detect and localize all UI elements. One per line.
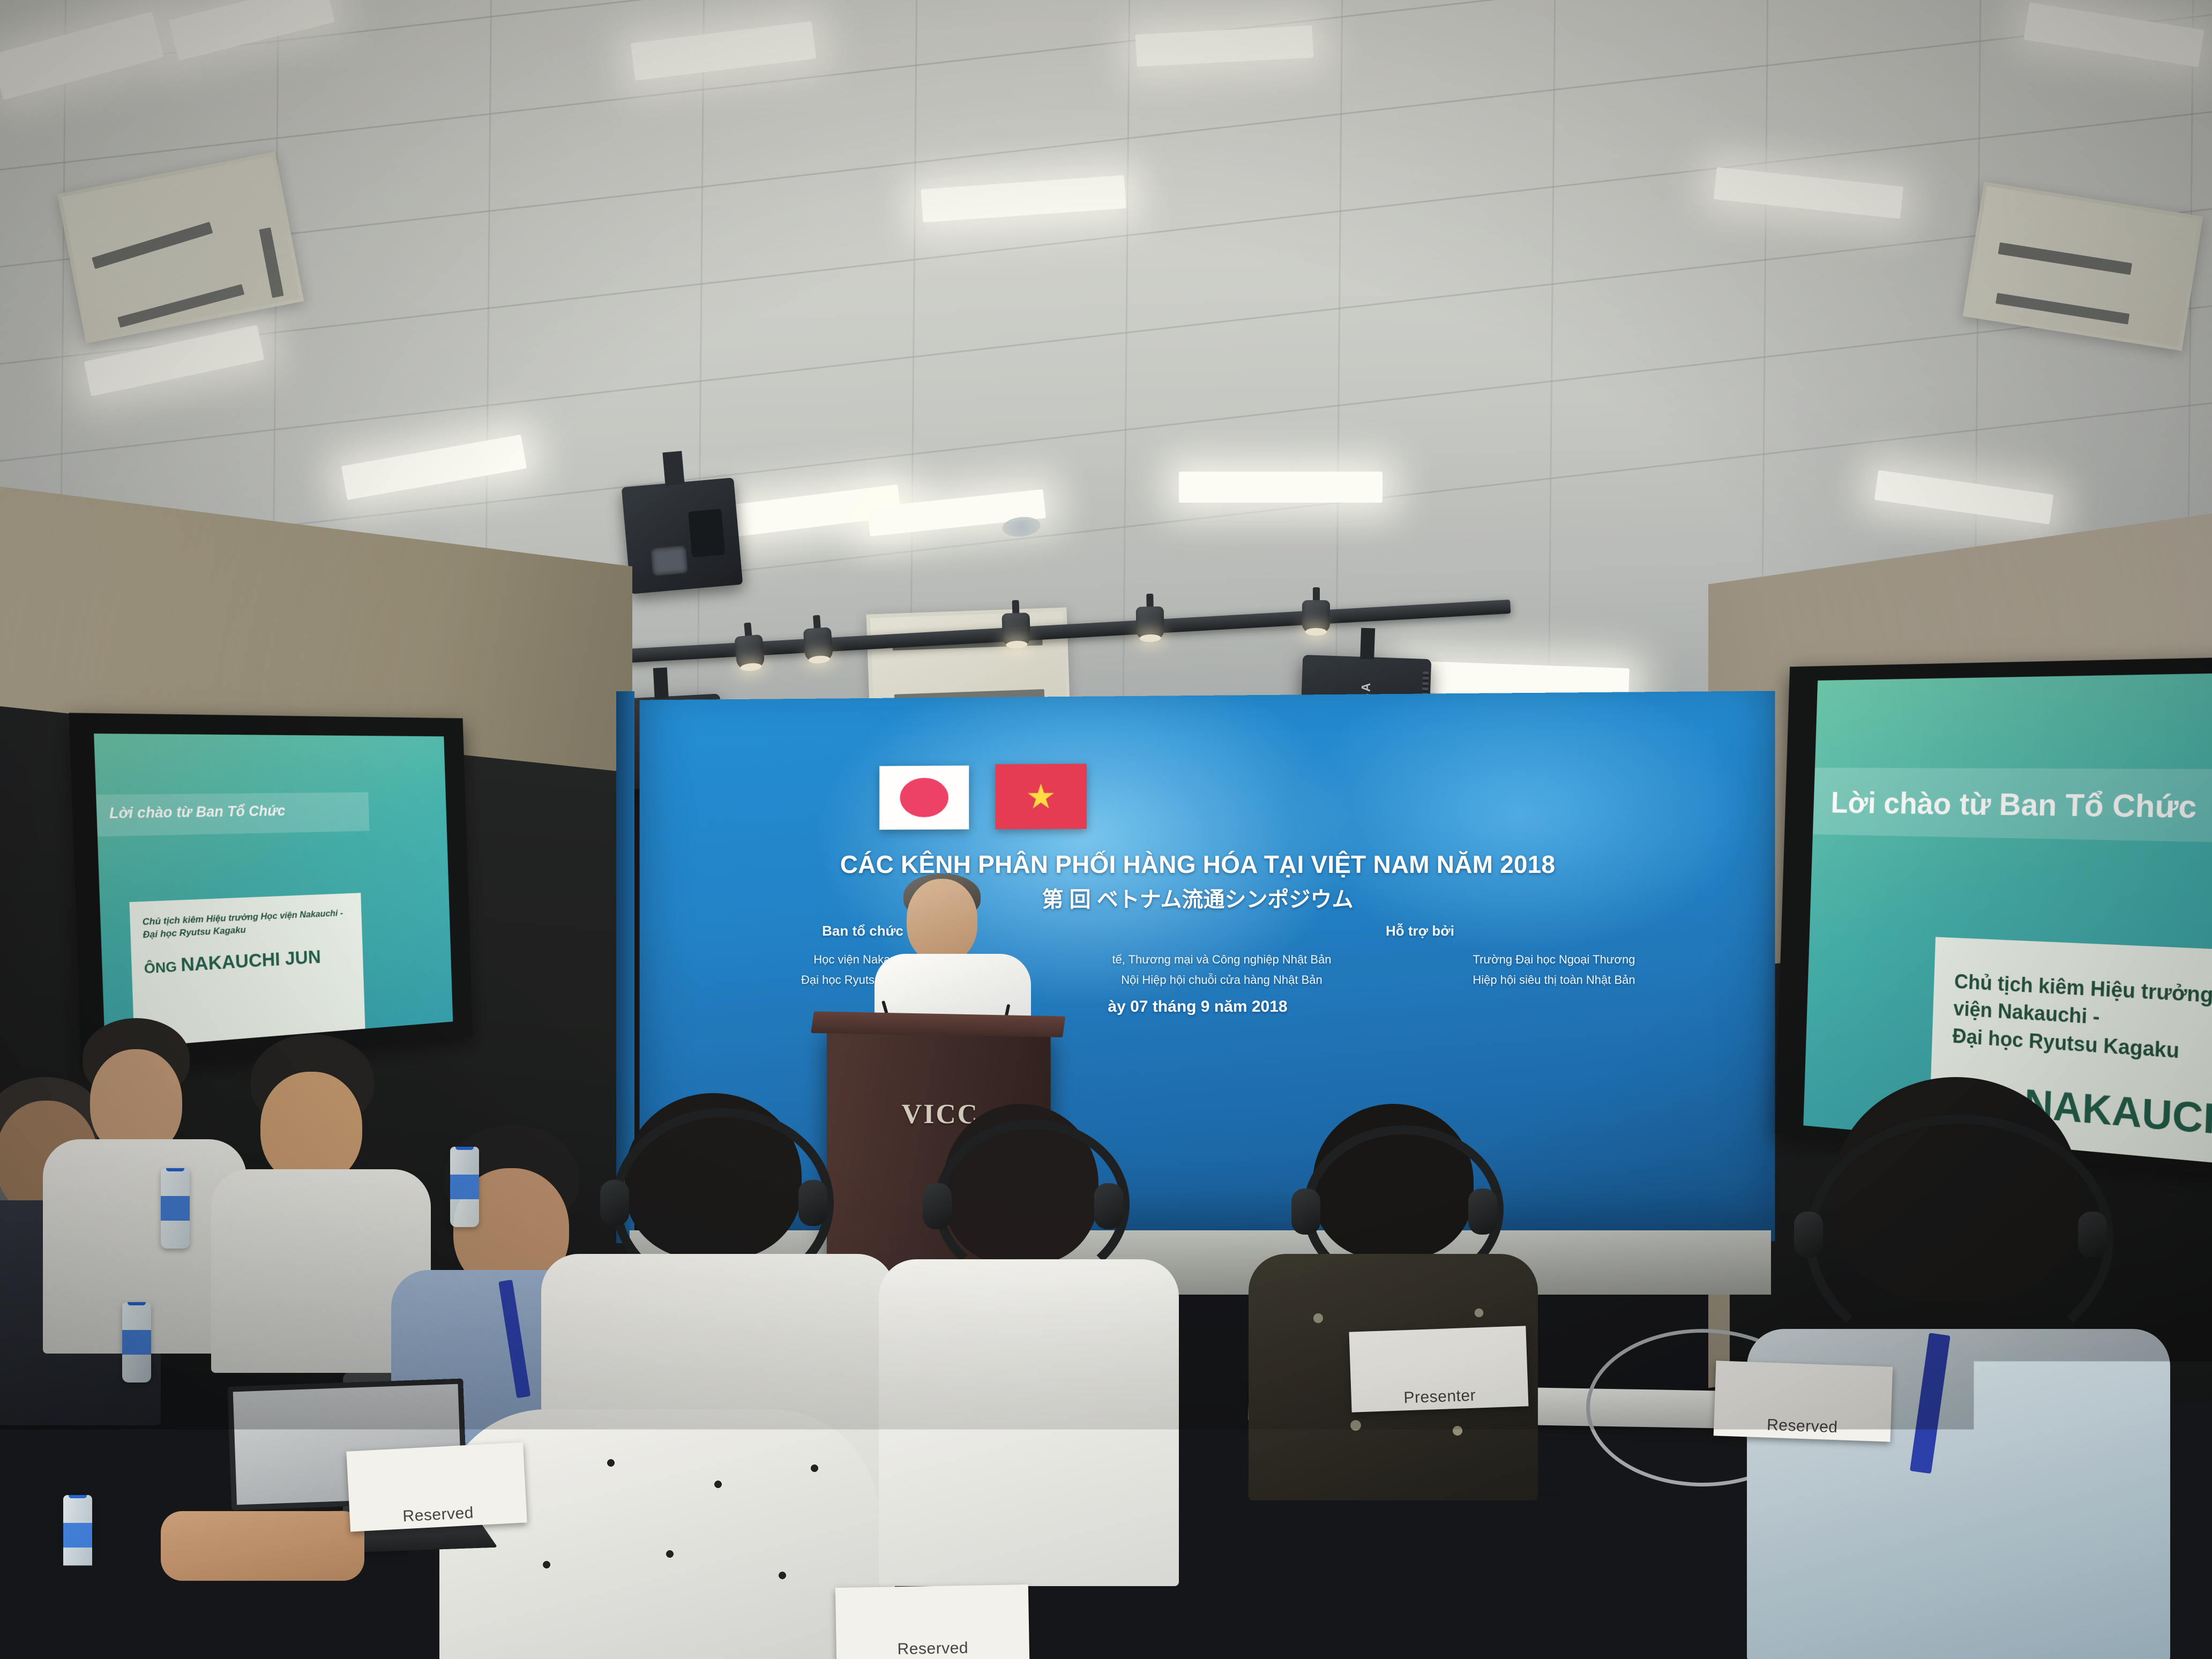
slide-honorific: ÔNG: [144, 958, 177, 977]
slide-speaker-name-left: ÔNG NAKAUCHI JUN: [144, 945, 354, 978]
podium-top-surface: [811, 1011, 1065, 1037]
banner-middle-line-2: Nội Hiệp hội chuỗi cửa hàng Nhật Bản: [1018, 971, 1425, 989]
japan-flag: [879, 766, 969, 830]
stage-spotlight[interactable]: [802, 614, 833, 662]
headset-earcup-right: [1094, 1183, 1123, 1229]
stage-spotlight[interactable]: [1135, 594, 1164, 640]
chair-sign-text: Reserved: [402, 1504, 474, 1526]
water-bottle[interactable]: [450, 1147, 479, 1227]
headset-earcup-left: [1291, 1189, 1320, 1235]
attendee-white-shirt-left: [59, 1018, 236, 1350]
tote-bag[interactable]: R&: [1504, 1490, 1733, 1659]
projector-lens: [651, 545, 688, 576]
interpretation-headset[interactable]: [1303, 1125, 1485, 1275]
chair-sign-text: Presenter: [1403, 1387, 1476, 1408]
ceiling-projector-mount: [622, 477, 743, 594]
slide-title-right: Lời chào từ Ban Tổ Chức: [1830, 785, 2198, 825]
ceiling-light-panel: [1179, 472, 1382, 503]
banner-supporter-heading: Hỗ trợ bởi: [1340, 923, 1500, 939]
stage-spotlight[interactable]: [733, 622, 765, 670]
interpretation-headset[interactable]: [1806, 1115, 2095, 1345]
water-bottle[interactable]: [63, 1495, 92, 1602]
presenter-head: [907, 879, 977, 962]
tote-handle: [1541, 1485, 1565, 1550]
attendee-floral-top-woman: [1243, 1104, 1543, 1500]
conference-hall-scene: RAMSA RAMSA ★ CÁC KÊNH PHÂN PHỐI HÀNG HÓ…: [0, 0, 2212, 1659]
japan-flag-sun-disc: [900, 778, 948, 817]
headset-earcup-right: [798, 1180, 827, 1226]
attendee-hands: [161, 1511, 364, 1581]
headset-earcup-left: [923, 1183, 952, 1229]
chair-sign-presenter: Presenter: [1349, 1326, 1528, 1412]
water-bottle[interactable]: [122, 1302, 151, 1382]
water-bottle[interactable]: [161, 1168, 190, 1249]
slide-title-left: Lời chào từ Ban Tổ Chức: [109, 803, 285, 823]
stage-spotlight[interactable]: [1002, 600, 1031, 647]
headset-earcup-right: [2078, 1212, 2107, 1258]
vietnam-flag: ★: [996, 764, 1087, 829]
chair-sign-reserved-right: Reserved: [1714, 1361, 1893, 1441]
banner-supporter-line-1: Trường Đại học Ngoại Thương: [1441, 951, 1667, 969]
tote-bag-text: R&: [1593, 1511, 1633, 1545]
slide-speaker-fullname: NAKAUCHI JUN: [181, 946, 322, 976]
banner-middle-line-1: tế, Thương mại và Công nghiệp Nhật Bản: [1023, 951, 1420, 969]
speaker-bracket: [1360, 628, 1375, 660]
headset-earcup-left: [1794, 1212, 1823, 1258]
bottle-cap: [166, 1168, 184, 1171]
projector-body-cutout: [688, 509, 725, 557]
bottle-cap: [455, 1147, 474, 1150]
banner-date: ày 07 tháng 9 năm 2018: [630, 998, 1766, 1016]
chair-sign-text: Reserved: [897, 1639, 968, 1658]
attendee-head: [260, 1072, 362, 1184]
speaker-bracket: [653, 668, 669, 699]
banner-supporter-line-2: Hiệp hội siêu thị toàn Nhật Bản: [1441, 971, 1667, 989]
headset-earcup-left: [600, 1180, 629, 1226]
bottle-label: [161, 1196, 190, 1221]
chair-sign-reserved-center: Reserved: [835, 1585, 1029, 1659]
bottle-label: [450, 1175, 479, 1199]
projector-pole: [662, 451, 684, 485]
attendee-torso: [879, 1259, 1179, 1586]
attendee-white-shirt-second: [225, 1034, 413, 1366]
chair-sign-text: Reserved: [1767, 1416, 1839, 1437]
slide-left: Lời chào từ Ban Tổ Chức Chủ tịch kiêm Hi…: [94, 734, 453, 1050]
chair-sign-reserved-front-left: Reserved: [346, 1442, 527, 1531]
spotlight-lens: [1305, 628, 1327, 636]
banner-title-japanese: 第 回 ベトナム流通シンポジウム: [630, 882, 1766, 913]
bottle-cap: [128, 1302, 146, 1305]
vietnam-flag-star: ★: [1026, 779, 1056, 813]
bottle-label: [63, 1523, 92, 1548]
projection-screen-left: Lời chào từ Ban Tổ Chức Chủ tịch kiêm Hi…: [69, 713, 473, 1071]
interpretation-headset[interactable]: [935, 1120, 1111, 1270]
bottle-label: [122, 1330, 151, 1355]
stage-spotlight[interactable]: [1302, 587, 1330, 633]
attendee-woman-ponytail: [911, 1104, 1136, 1586]
headset-earcup-right: [1468, 1189, 1497, 1235]
banner-title-vietnamese: CÁC KÊNH PHÂN PHỐI HÀNG HÓA TẠI VIỆT NAM…: [630, 850, 1766, 879]
headset-band: [1806, 1115, 2113, 1363]
bottle-cap: [69, 1495, 87, 1498]
